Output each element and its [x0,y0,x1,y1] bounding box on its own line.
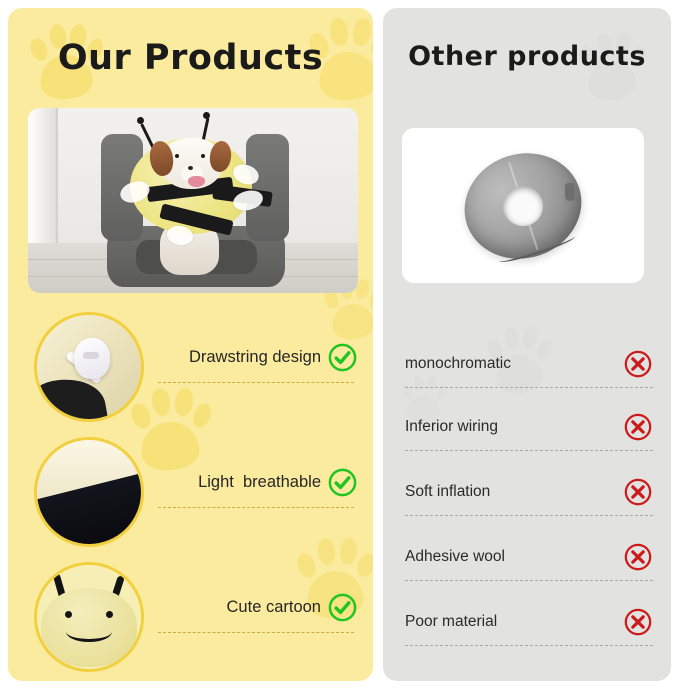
feature-divider [158,632,354,633]
other-products-panel: Other products monochromatic [383,8,671,681]
our-products-panel: Our Products [8,8,373,681]
drawback-label: Soft inflation [405,483,490,501]
feature-label: Light breathable [198,473,321,492]
x-circle-icon [623,542,653,572]
other-products-title: Other products [383,41,671,72]
check-circle-icon [327,342,358,373]
check-circle-icon [327,467,358,498]
infographic-root: Our Products [0,0,679,689]
feature-label: Drawstring design [189,348,321,367]
feature-thumbnail-breathable [34,437,144,547]
drawback-label: Inferior wiring [405,418,498,436]
feature-row: Drawstring design [28,308,358,426]
competitor-hero-image [402,128,644,283]
drawback-label: Poor material [405,613,497,631]
feature-label: Cute cartoon [227,598,321,617]
drawback-divider [405,387,653,388]
page-title: Our Products [8,38,373,78]
drawback-row: Poor material [405,601,653,663]
drawback-row: Adhesive wool [405,536,653,598]
drawback-label: Adhesive wool [405,548,505,566]
drawback-divider [405,515,653,516]
x-circle-icon [623,477,653,507]
feature-row: Light breathable [28,433,358,551]
feature-thumbnail-drawstring [34,312,144,422]
feature-thumbnail-cartoon [34,562,144,672]
feature-row: Cute cartoon [28,558,358,676]
feature-divider [158,507,354,508]
feature-divider [158,382,354,383]
drawback-divider [405,450,653,451]
drawback-row: Inferior wiring [405,406,653,468]
check-circle-icon [327,592,358,623]
our-product-hero-image [28,108,358,293]
drawback-divider [405,580,653,581]
x-circle-icon [623,412,653,442]
x-circle-icon [623,607,653,637]
drawback-row: monochromatic [405,343,653,405]
drawback-row: Soft inflation [405,471,653,533]
drawback-label: monochromatic [405,355,511,373]
drawback-divider [405,645,653,646]
x-circle-icon [623,349,653,379]
